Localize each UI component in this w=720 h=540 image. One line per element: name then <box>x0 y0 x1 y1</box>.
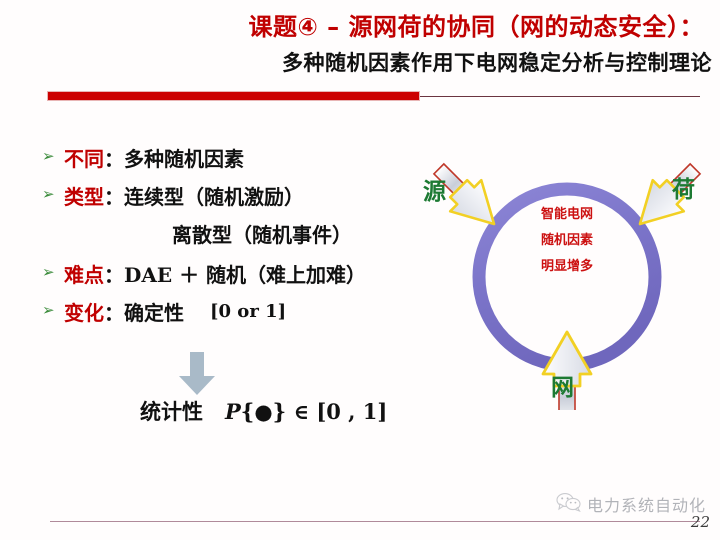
bullet-list: ➢不同：多种随机因素 ➢类型：连续型（随机激励） 离散型（随机事件） ➢难点：D… <box>42 143 442 335</box>
formula-p: P <box>225 399 241 424</box>
list-item: ➢变化：确定性[0 or 1] <box>42 297 442 335</box>
formula-brace-close: } <box>273 399 287 424</box>
footer-divider <box>50 521 700 522</box>
list-item-key: 难点 <box>64 263 104 287</box>
list-item-value: DAE ＋ 随机（难上加难） <box>124 263 366 287</box>
list-item-key: 类型 <box>64 185 104 209</box>
title-block: 课题④ – 源网荷的协同（网的动态安全）： 多种随机因素作用下电网稳定分析与控制… <box>0 8 720 86</box>
node-label-grid: 网 <box>551 368 574 402</box>
list-item: ➢不同：多种随机因素 <box>42 143 442 181</box>
bullet-arrow-icon: ➢ <box>42 263 64 281</box>
formula-expression: P{●} ∈ [0 , 1] <box>225 399 387 424</box>
list-item-key: 变化 <box>64 301 104 325</box>
range-token: [0 or 1] <box>210 301 286 322</box>
list-item-value: 确定性 <box>124 301 184 325</box>
list-item: ➢类型：连续型（随机激励） <box>42 181 442 219</box>
node-label-load: 荷 <box>672 170 695 204</box>
list-item-separator: ： <box>104 263 124 287</box>
formula-label: 统计性 <box>140 400 203 424</box>
bullet-arrow-icon: ➢ <box>42 147 64 165</box>
center-text-line: 明显增多 <box>514 254 620 280</box>
list-item-separator: ： <box>104 147 124 171</box>
source-grid-load-diagram: 源 荷 网 智能电网 随机因素 明显增多 <box>410 140 720 410</box>
list-item-value: 连续型（随机激励） <box>124 185 304 209</box>
list-item-key: 不同 <box>64 147 104 171</box>
wechat-logo-icon <box>556 492 582 516</box>
formula-element-of: ∈ <box>293 399 309 424</box>
formula-interval: [0 , 1] <box>316 399 387 424</box>
page-title-secondary: 多种随机因素作用下电网稳定分析与控制理论 <box>282 52 712 75</box>
bullet-arrow-icon: ➢ <box>42 185 64 203</box>
list-item-continuation-value: 离散型（随机事件） <box>172 223 352 247</box>
list-item: ➢难点：DAE ＋ 随机（难上加难） <box>42 259 442 297</box>
list-item-value: 多种随机因素 <box>124 147 244 171</box>
page-title-primary: 课题④ – 源网荷的协同（网的动态安全）： <box>248 14 704 40</box>
list-item-separator: ： <box>104 301 124 325</box>
formula-brace-open: { <box>241 399 255 424</box>
bullet-arrow-icon: ➢ <box>42 301 64 319</box>
node-label-source: 源 <box>423 172 446 206</box>
list-item-continuation: 离散型（随机事件） <box>42 219 442 259</box>
title-rule-thick <box>47 91 420 101</box>
down-arrow-icon <box>178 352 216 396</box>
formula-row: 统计性P{●} ∈ [0 , 1] <box>140 396 387 426</box>
diagram-center-text: 智能电网 随机因素 明显增多 <box>514 202 620 280</box>
list-item-separator: ： <box>104 185 124 209</box>
formula-dot: ● <box>254 399 272 424</box>
page-number: 22 <box>691 513 710 531</box>
watermark-text: 电力系统自动化 <box>587 492 706 516</box>
center-text-line: 随机因素 <box>514 228 620 254</box>
watermark: 电力系统自动化 <box>556 492 706 516</box>
center-text-line: 智能电网 <box>514 202 620 228</box>
